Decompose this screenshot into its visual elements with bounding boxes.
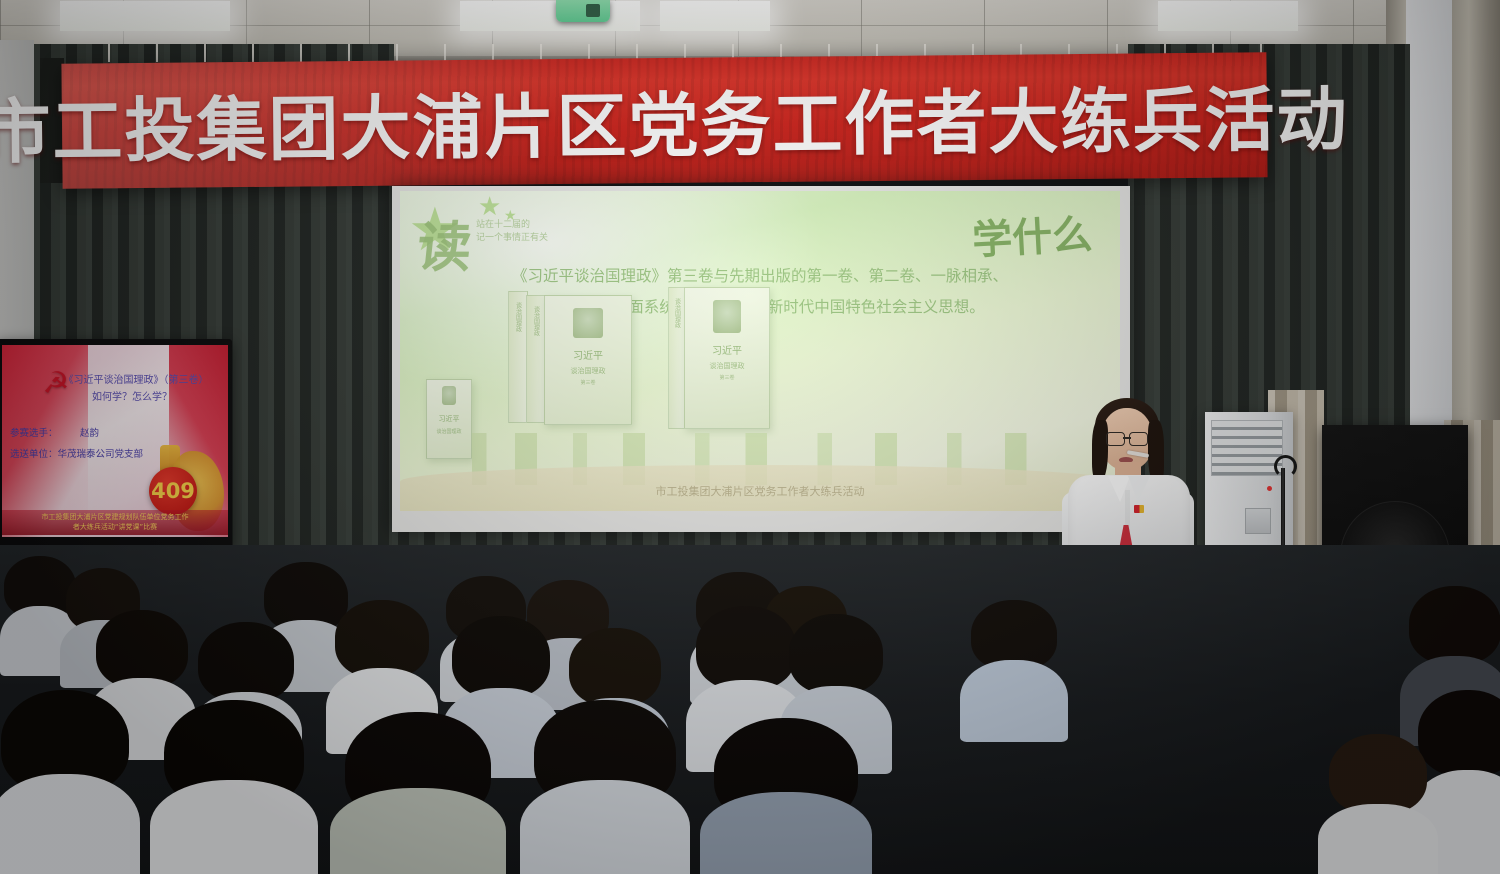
book-spine-text: 谈治国理政 bbox=[532, 306, 541, 336]
book-cover-front: 习近平 谈治国理政 第三卷 bbox=[544, 295, 632, 425]
speaker-hair-side-left bbox=[1092, 420, 1108, 482]
projection-screen: ★ ★ ★ 读 站在十二届的记一个事情正有关 学什么 《习近平谈治国理政》第三卷… bbox=[400, 191, 1120, 511]
book-volume: 第三卷 bbox=[719, 374, 734, 381]
portrait-image bbox=[573, 308, 602, 338]
monitor-title-line-2: 如何学？怎么学？ bbox=[54, 388, 210, 403]
monitor-footer: 市工投集团大浦片区党建规划队伍单位党务工作 者大练兵活动“讲党课”比赛 bbox=[2, 510, 228, 535]
monitor-footer-line-2: 者大练兵活动“讲党课”比赛 bbox=[2, 522, 228, 532]
ceiling-light-panel bbox=[60, 1, 230, 31]
star-icon: ★ bbox=[478, 191, 501, 222]
tv-monitor-screen: ☭ 《习近平谈治国理政》（第三卷） 如何学？怎么学？ 参赛选手： 赵韵 选送单位… bbox=[2, 345, 228, 537]
slide-heading-right: 学什么 bbox=[971, 202, 1094, 266]
slide-footer-text: 市工投集团大浦片区党务工作者大练兵活动 bbox=[400, 483, 1120, 499]
book-spine: 谈治国理政 bbox=[526, 295, 546, 423]
audience-member bbox=[150, 700, 318, 874]
book-cover-second: 习近平 谈治国理政 第三卷 bbox=[684, 287, 770, 429]
event-banner: 市工投集团大浦片区党务工作者大练兵活动 bbox=[61, 52, 1267, 189]
projector-icon bbox=[556, 0, 610, 22]
portrait-image bbox=[713, 300, 742, 333]
audience-member bbox=[0, 690, 140, 874]
book-spine: 谈治国理政 bbox=[508, 291, 528, 423]
audience-member bbox=[520, 700, 690, 874]
book-title: 习近平 bbox=[712, 342, 742, 357]
portrait-image bbox=[442, 386, 457, 405]
book-subtitle: 谈治国理政 bbox=[710, 361, 745, 371]
monitor-title-line-1: 《习近平谈治国理政》（第三卷） bbox=[54, 371, 218, 386]
contestant-name: 赵韵 bbox=[80, 425, 99, 439]
ac-control-panel[interactable] bbox=[1245, 508, 1271, 534]
ceiling-light-panel bbox=[1158, 1, 1298, 31]
unit-line: 选送单位：华茂瑞泰公司党支部 bbox=[10, 446, 143, 460]
audience-member bbox=[960, 600, 1068, 742]
book-title: 习近平 bbox=[573, 347, 603, 362]
conference-hall-scene: 市工投集团大浦片区党务工作者大练兵活动 ★ ★ ★ 读 站在十二届的记一个事情正… bbox=[0, 0, 1500, 874]
event-banner-text: 市工投集团大浦片区党务工作者大练兵活动 bbox=[61, 52, 1267, 189]
ceiling-light-panel bbox=[660, 1, 770, 31]
monitor-footer-line-1: 市工投集团大浦片区党建规划队伍单位党务工作 bbox=[2, 512, 228, 522]
contestant-label: 参赛选手： bbox=[10, 425, 58, 439]
ac-vent-grill bbox=[1211, 420, 1283, 476]
book-spine-text: 谈治国理政 bbox=[673, 298, 682, 328]
ceiling-light-panel bbox=[460, 1, 640, 31]
party-badge-pin-icon bbox=[1134, 505, 1144, 513]
audience-member bbox=[330, 712, 506, 874]
contestant-number-badge: 409 bbox=[149, 467, 197, 515]
book-spine-text: 谈治国理政 bbox=[514, 302, 523, 332]
ac-power-led-icon bbox=[1267, 486, 1272, 491]
eyeglasses-icon bbox=[1106, 432, 1148, 444]
audience-member bbox=[1318, 734, 1438, 874]
slide-heading-left-sub: 站在十二届的记一个事情正有关 bbox=[476, 219, 548, 245]
microphone-clip-icon bbox=[1274, 455, 1297, 478]
book-subtitle: 谈治国理政 bbox=[571, 366, 606, 376]
book-title: 习近平 bbox=[439, 414, 460, 424]
audience-member bbox=[700, 718, 872, 874]
book-volume: 第三卷 bbox=[580, 379, 595, 386]
